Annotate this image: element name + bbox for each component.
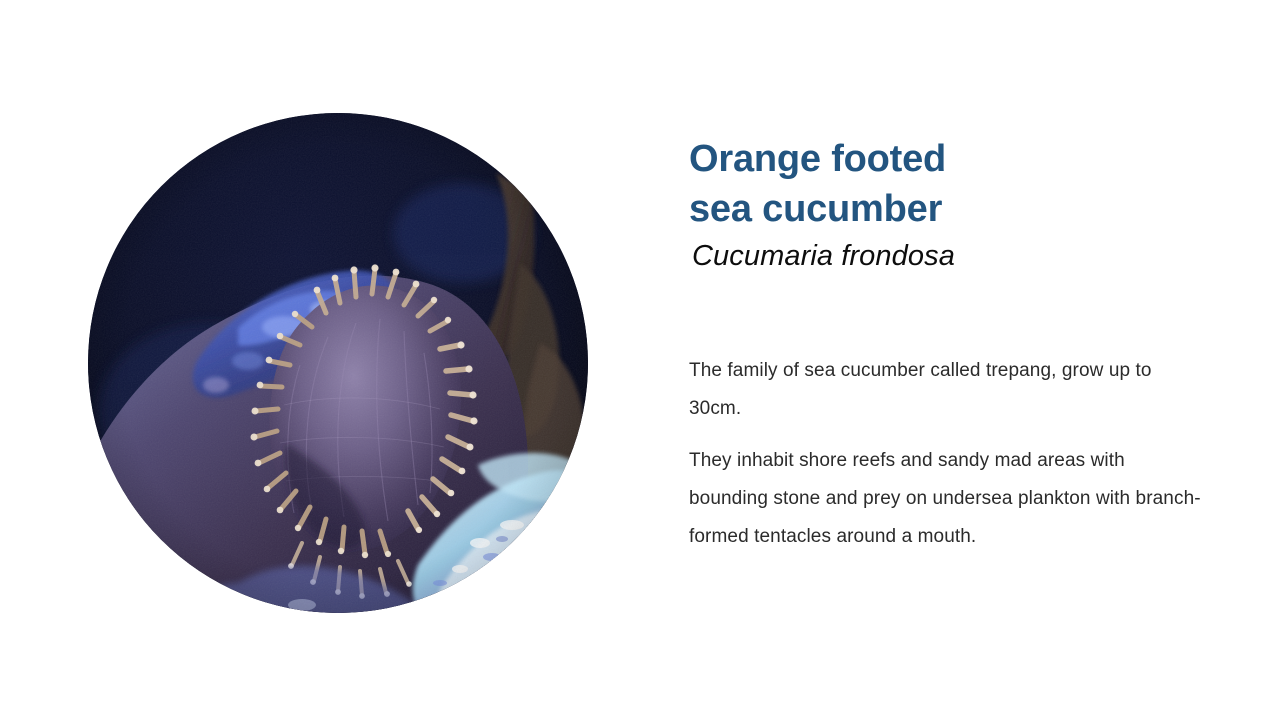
description-block: The family of sea cucumber called trepan… xyxy=(689,352,1209,556)
sea-cucumber-photo xyxy=(88,113,588,613)
description-paragraph-2: They inhabit shore reefs and sandy mad a… xyxy=(689,442,1209,556)
photo-illustration xyxy=(88,113,588,613)
description-paragraph-1: The family of sea cucumber called trepan… xyxy=(689,352,1209,428)
species-scientific-name: Cucumaria frondosa xyxy=(692,238,1209,275)
slide-canvas: Orange footed sea cucumber Cucumaria fro… xyxy=(0,0,1280,720)
species-common-name: Orange footed sea cucumber xyxy=(689,134,1209,234)
heading-block: Orange footed sea cucumber Cucumaria fro… xyxy=(689,134,1209,275)
